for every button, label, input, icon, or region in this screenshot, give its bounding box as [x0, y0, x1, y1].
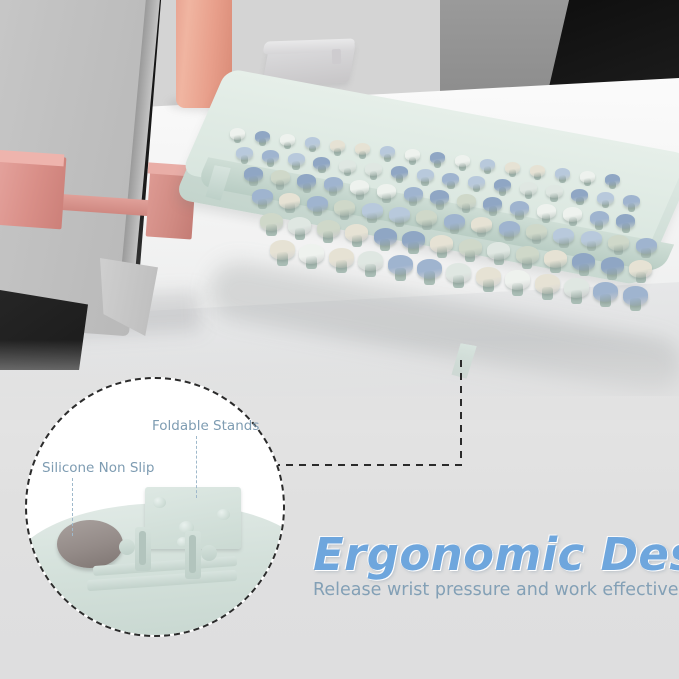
- keycap: [590, 211, 609, 226]
- keycap: [297, 174, 316, 189]
- hinge-pivot-right: [201, 545, 217, 561]
- keycap: [252, 189, 273, 205]
- hinge-pivot-left: [119, 539, 135, 555]
- magnifier-circle: [25, 377, 285, 637]
- keycap: [430, 152, 445, 164]
- keycap: [546, 185, 563, 198]
- hinge-slot-right: [189, 535, 196, 573]
- keycap: [280, 134, 295, 146]
- keycap: [605, 174, 620, 186]
- callout-silicone-non-slip: Silicone Non Slip: [42, 460, 155, 476]
- keycap: [339, 160, 356, 173]
- keycap: [350, 180, 369, 195]
- keycap: [636, 238, 657, 254]
- keycap: [377, 184, 396, 199]
- keycap: [345, 224, 368, 242]
- keycap: [505, 270, 530, 290]
- keycap: [623, 286, 648, 306]
- keycap: [629, 260, 652, 278]
- keycap: [530, 165, 545, 177]
- keycap: [230, 128, 245, 140]
- keycap: [288, 153, 305, 166]
- keycap: [358, 251, 383, 271]
- keycap: [505, 162, 520, 174]
- keycap: [236, 147, 253, 160]
- keycap: [535, 274, 560, 294]
- keycap: [510, 201, 529, 216]
- keycap: [255, 131, 270, 143]
- keycap: [417, 169, 434, 182]
- keycap: [526, 224, 547, 240]
- keycap: [402, 231, 425, 249]
- keycap-field: [196, 104, 679, 374]
- keycap: [468, 176, 485, 189]
- keycap: [459, 239, 482, 257]
- keycap: [494, 179, 511, 192]
- keyboard: [196, 104, 679, 374]
- keycap: [417, 259, 442, 279]
- keycap: [380, 146, 395, 158]
- headline-subtitle: Release wrist pressure and work effectiv…: [313, 580, 679, 600]
- leader-line-silicone-non-slip: [72, 478, 73, 536]
- keycap: [553, 228, 574, 244]
- keycap: [520, 182, 537, 195]
- keycap: [476, 267, 501, 287]
- keycap: [430, 190, 449, 205]
- stand-rivet-2: [217, 509, 230, 520]
- keycap: [623, 195, 640, 208]
- keycap: [457, 194, 476, 209]
- keycap: [260, 213, 283, 231]
- keycap: [544, 250, 567, 268]
- keycap: [355, 143, 370, 155]
- keycap: [262, 150, 279, 163]
- keycap: [571, 189, 588, 202]
- keycap: [365, 163, 382, 176]
- headline-title: Ergonomic Design: [313, 528, 679, 581]
- keycap: [305, 137, 320, 149]
- keycap: [483, 197, 502, 212]
- keycap: [388, 255, 413, 275]
- keycap: [442, 173, 459, 186]
- callout-foldable-stands: Foldable Stands: [152, 418, 259, 434]
- keycap: [516, 246, 539, 264]
- keycap: [334, 200, 355, 216]
- keycap: [279, 193, 300, 209]
- stand-rivet-1: [153, 497, 166, 508]
- keycap: [374, 228, 397, 246]
- keycap: [288, 217, 311, 235]
- keycap: [608, 235, 629, 251]
- keycap: [244, 167, 263, 182]
- keycap: [572, 253, 595, 271]
- keycap: [471, 217, 492, 233]
- keycap: [391, 166, 408, 179]
- keycap: [270, 240, 295, 260]
- keycap: [324, 177, 343, 192]
- keycap: [593, 282, 618, 302]
- keycap: [404, 187, 423, 202]
- keycap: [313, 157, 330, 170]
- hinge-slot-left: [139, 531, 146, 565]
- product-image: Foldable Stands Silicone Non Slip Ergono…: [0, 0, 679, 679]
- keycap: [430, 235, 453, 253]
- silicone-foot-pad: [57, 520, 123, 568]
- keycap: [555, 168, 570, 180]
- keycap: [580, 171, 595, 183]
- leader-line-foldable-stands: [196, 436, 197, 498]
- keycap: [581, 231, 602, 247]
- keycap: [362, 203, 383, 219]
- keycap: [444, 214, 465, 230]
- keycap: [389, 207, 410, 223]
- keycap: [330, 140, 345, 152]
- keycap: [446, 263, 471, 283]
- keycap: [537, 204, 556, 219]
- keycap: [499, 221, 520, 237]
- keycap: [416, 210, 437, 226]
- keycap: [271, 170, 290, 185]
- storage-box-clip: [332, 49, 342, 64]
- keycap: [616, 214, 635, 229]
- keycap: [563, 207, 582, 222]
- keycap: [487, 242, 510, 260]
- keycap: [307, 196, 328, 212]
- keycap: [564, 278, 589, 298]
- keycap: [455, 155, 470, 167]
- keycap: [597, 192, 614, 205]
- keycap: [329, 248, 354, 268]
- keycap: [480, 159, 495, 171]
- keycap: [405, 149, 420, 161]
- keycap: [317, 220, 340, 238]
- keycap: [299, 244, 324, 264]
- keycap: [601, 257, 624, 275]
